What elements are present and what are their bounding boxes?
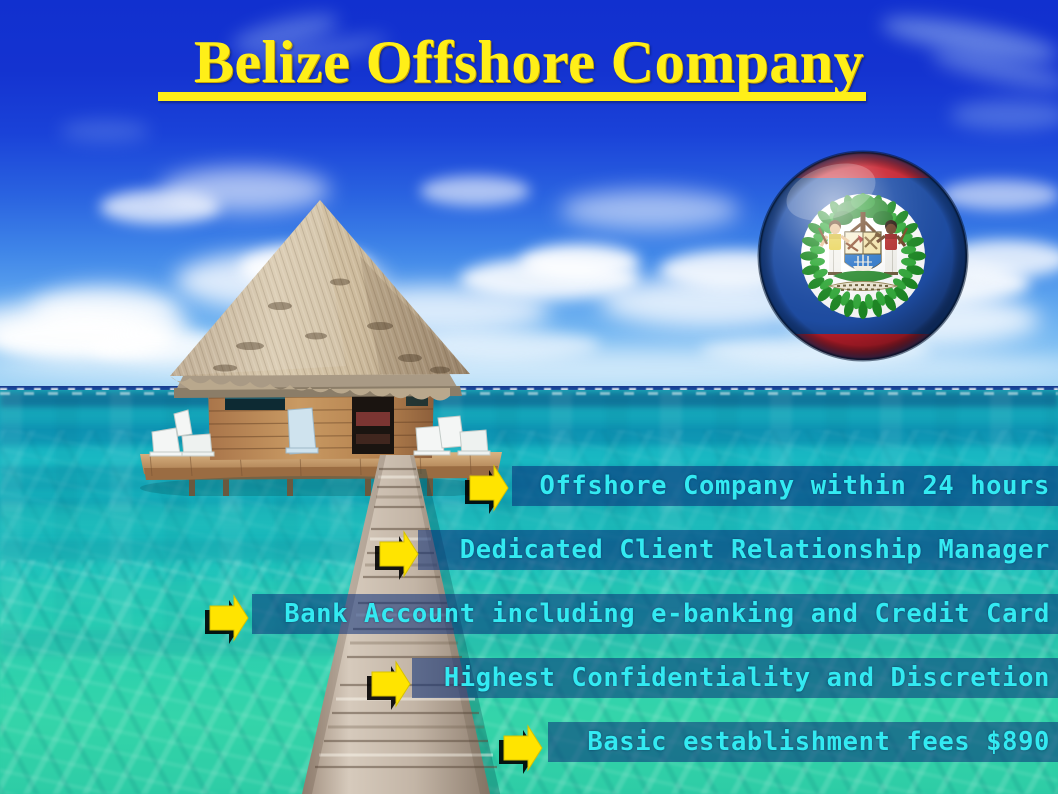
yellow-right-arrow-icon (374, 526, 420, 580)
overwater-bungalow (130, 196, 512, 496)
title-underline (158, 92, 866, 101)
bullet-text: Dedicated Client Relationship Manager (460, 530, 1050, 570)
bullet-text: Offshore Company within 24 hours (540, 466, 1050, 506)
bullet-row: Offshore Company within 24 hours (0, 466, 1058, 506)
bullet-row: Dedicated Client Relationship Manager (0, 530, 1058, 570)
yellow-right-arrow-icon (498, 720, 544, 774)
belize-flag-badge (757, 136, 969, 376)
bullet-row: Basic establishment fees $890 (0, 722, 1058, 762)
cloud-wisp (950, 100, 1058, 130)
bullet-row: Highest Confidentiality and Discretion (0, 658, 1058, 698)
bullet-text: Highest Confidentiality and Discretion (444, 658, 1050, 698)
cloud-wisp (60, 120, 150, 142)
bullet-row: Bank Account including e-banking and Cre… (0, 594, 1058, 634)
yellow-right-arrow-icon (366, 656, 412, 710)
slide-canvas: Offshore Company within 24 hours Dedicat… (0, 0, 1058, 794)
cloud (520, 244, 640, 280)
yellow-right-arrow-icon (204, 590, 250, 644)
bullet-text: Bank Account including e-banking and Cre… (284, 594, 1050, 634)
bullet-text: Basic establishment fees $890 (587, 722, 1050, 762)
page-title: Belize Offshore Company (0, 32, 1058, 92)
yellow-right-arrow-icon (464, 460, 510, 514)
cloud (560, 190, 740, 230)
